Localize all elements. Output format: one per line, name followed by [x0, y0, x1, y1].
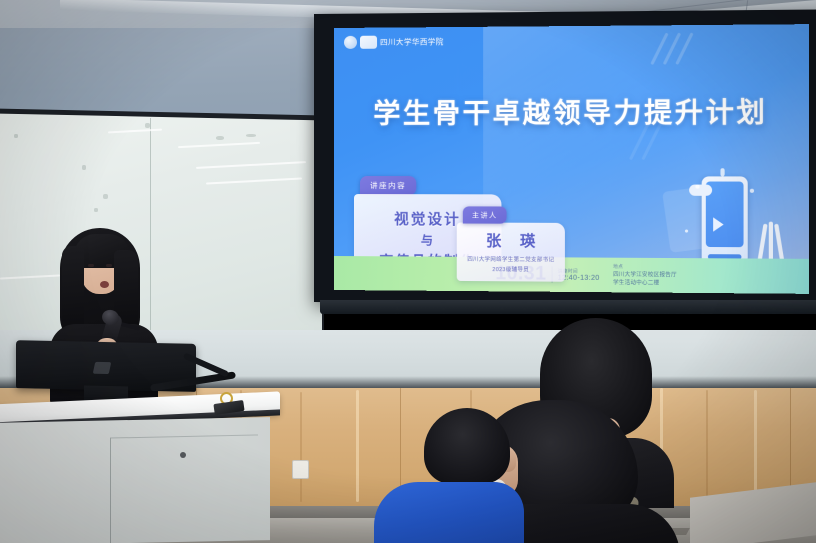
content-line-1: 视觉设计 [394, 208, 461, 229]
keys-on-desk[interactable] [214, 392, 248, 416]
slide-title: 学生骨干卓越领导力提升计划 [334, 90, 809, 131]
whiteboard-smudge [216, 136, 224, 140]
speaker-card: 张 瑛 四川大学网络学生第二党支部书记 2023级辅导员 [457, 222, 565, 281]
presenter-mouth [100, 281, 109, 288]
whiteboard-smudge [145, 123, 150, 128]
blue-tshirt [374, 482, 524, 543]
whiteboard-smudge [14, 134, 18, 138]
content-badge: 讲座内容 [360, 176, 416, 195]
projector-screen-bottom-bar [320, 300, 816, 314]
audience-hair [424, 408, 510, 484]
speaker-subtitle-1: 四川大学网络学生第二党支部书记 [467, 255, 554, 264]
sparkle-icon [695, 185, 699, 189]
whiteboard-smudge [103, 194, 108, 199]
speaker-name: 张 瑛 [479, 230, 542, 252]
whiteboard-smudge [246, 134, 256, 137]
wood-highlight [356, 390, 359, 502]
projector-screen-assembly[interactable]: 四川大学华西学院 学生骨干卓越领导力提升计划 讲座内容 视觉设计 与 宣传品的制… [314, 14, 812, 316]
tripod-leg [757, 224, 767, 263]
event-place-block: 地点 四川大学江安校区报告厅 学生活动中心二楼 [613, 264, 677, 287]
place-value-2: 学生活动中心二楼 [613, 278, 677, 287]
tripod-leg [774, 224, 784, 263]
tripod-icon [758, 222, 783, 263]
podium-cabinet-door[interactable] [110, 434, 258, 543]
presenter-eye [106, 264, 112, 267]
wood-grain [706, 390, 708, 504]
monitor-brand-logo [93, 362, 112, 374]
slide-footer-bar: 10.31 讲座时间 12:40-13:20 地点 四川大学江安校区报告厅 学生… [334, 256, 809, 294]
logo-emblem-icon [344, 36, 357, 49]
sparkle-icon [685, 230, 688, 233]
sparkle-icon [720, 168, 724, 176]
presenter-eye [88, 264, 94, 267]
speaker-subtitle-2: 2023级辅导员 [492, 265, 529, 273]
whiteboard-smudge [82, 165, 86, 170]
presentation-slide[interactable]: 四川大学华西学院 学生骨干卓越领导力提升计划 讲座内容 视觉设计 与 宣传品的制… [334, 24, 809, 294]
content-line-2: 与 [421, 231, 434, 248]
tripod-leg [769, 222, 773, 263]
speaker-badge: 主讲人 [463, 206, 507, 223]
key-fob [213, 400, 244, 415]
university-logo-text: 四川大学华西学院 [380, 36, 444, 48]
audience-member-front [410, 408, 540, 543]
logo-badge-icon [360, 36, 377, 49]
podium-lock-icon[interactable] [180, 452, 186, 458]
whiteboard-smudge [94, 208, 98, 212]
sparkle-icon [750, 189, 754, 193]
lecture-room-photo: 四川大学华西学院 学生骨干卓越领导力提升计划 讲座内容 视觉设计 与 宣传品的制… [0, 0, 816, 543]
play-icon [713, 217, 723, 231]
university-logo: 四川大学华西学院 [344, 35, 444, 49]
phone-notch [689, 185, 712, 196]
wood-grain [300, 392, 302, 502]
wall-outlet[interactable] [292, 460, 309, 479]
